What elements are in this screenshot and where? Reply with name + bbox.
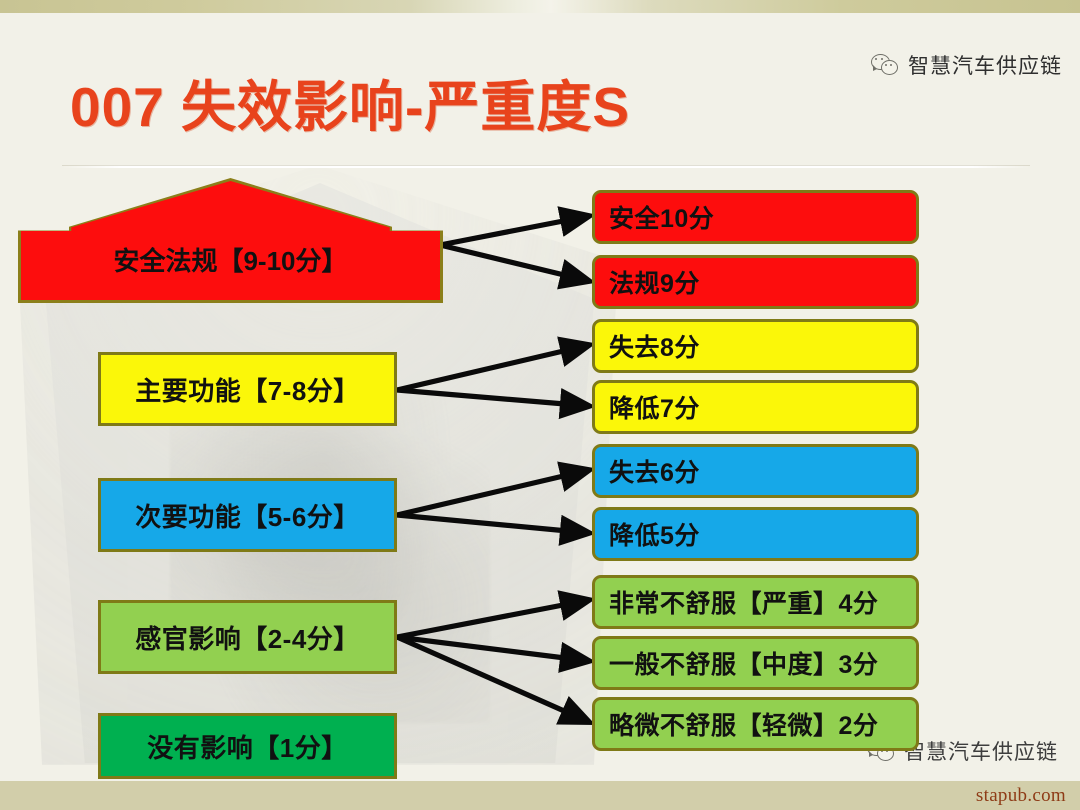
connector-loss-6 bbox=[397, 470, 589, 515]
outcome-regulation-9-label: 法规9分 bbox=[609, 264, 700, 300]
connector-loss-8 bbox=[397, 345, 589, 390]
wechat-icon bbox=[871, 53, 901, 77]
connector-safety-10 bbox=[440, 216, 589, 245]
level-no-impact[interactable]: 没有影响【1分】 bbox=[98, 713, 397, 779]
outcome-regulation-9[interactable]: 法规9分 bbox=[592, 255, 919, 309]
level-sensory-impact[interactable]: 感官影响【2-4分】 bbox=[98, 600, 397, 674]
outcome-slight-uncomfortable-2-label: 略微不舒服【轻微】2分 bbox=[609, 706, 878, 742]
page-title: 007 失效影响-严重度S bbox=[70, 62, 630, 142]
wechat-account-name-bottom: 智慧汽车供应链 bbox=[904, 736, 1058, 766]
outcome-moderate-uncomfortable-3-label: 一般不舒服【中度】3分 bbox=[609, 645, 878, 681]
level-primary-function-label: 主要功能【7-8分】 bbox=[135, 371, 360, 408]
outcome-degrade-5[interactable]: 降低5分 bbox=[592, 507, 919, 561]
outcome-safety-10-label: 安全10分 bbox=[609, 199, 714, 235]
connector-moderate-uncomfortable-3 bbox=[397, 637, 589, 661]
outcome-loss-6[interactable]: 失去6分 bbox=[592, 444, 919, 498]
level-safety-regulation-label: 安全法规【9-10分】 bbox=[113, 241, 347, 278]
top-decorative-bar bbox=[0, 0, 1080, 13]
outcome-very-uncomfortable-4[interactable]: 非常不舒服【严重】4分 bbox=[592, 575, 919, 629]
outcome-safety-10[interactable]: 安全10分 bbox=[592, 190, 919, 244]
connector-degrade-7 bbox=[397, 390, 589, 406]
outcome-degrade-7[interactable]: 降低7分 bbox=[592, 380, 919, 434]
outcome-degrade-7-label: 降低7分 bbox=[609, 389, 700, 425]
level-secondary-function-label: 次要功能【5-6分】 bbox=[135, 497, 360, 534]
outcome-slight-uncomfortable-2[interactable]: 略微不舒服【轻微】2分 bbox=[592, 697, 919, 751]
level-no-impact-label: 没有影响【1分】 bbox=[147, 728, 347, 765]
bottom-decorative-bar bbox=[0, 781, 1080, 810]
outcome-moderate-uncomfortable-3[interactable]: 一般不舒服【中度】3分 bbox=[592, 636, 919, 690]
connector-degrade-5 bbox=[397, 515, 589, 533]
connector-slight-uncomfortable-2 bbox=[397, 637, 589, 722]
level-secondary-function[interactable]: 次要功能【5-6分】 bbox=[98, 478, 397, 552]
connector-very-uncomfortable-4 bbox=[397, 600, 589, 637]
site-url-label: stapub.com bbox=[976, 785, 1066, 807]
slide-canvas: stapub.com 007 失效影响-严重度S 智慧汽车供应链 智慧汽车供应链 bbox=[0, 0, 1080, 810]
level-primary-function[interactable]: 主要功能【7-8分】 bbox=[98, 352, 397, 426]
wechat-badge-top: 智慧汽车供应链 bbox=[871, 50, 1062, 80]
wechat-account-name-top: 智慧汽车供应链 bbox=[908, 50, 1062, 80]
outcome-loss-8-label: 失去8分 bbox=[609, 328, 700, 364]
outcome-loss-6-label: 失去6分 bbox=[609, 453, 700, 489]
outcome-very-uncomfortable-4-label: 非常不舒服【严重】4分 bbox=[609, 584, 878, 620]
outcome-degrade-5-label: 降低5分 bbox=[609, 516, 700, 552]
connector-regulation-9 bbox=[440, 245, 589, 281]
outcome-loss-8[interactable]: 失去8分 bbox=[592, 319, 919, 373]
title-divider bbox=[62, 165, 1030, 168]
level-safety-regulation[interactable]: 安全法规【9-10分】 bbox=[21, 181, 440, 300]
level-sensory-impact-label: 感官影响【2-4分】 bbox=[135, 619, 360, 656]
